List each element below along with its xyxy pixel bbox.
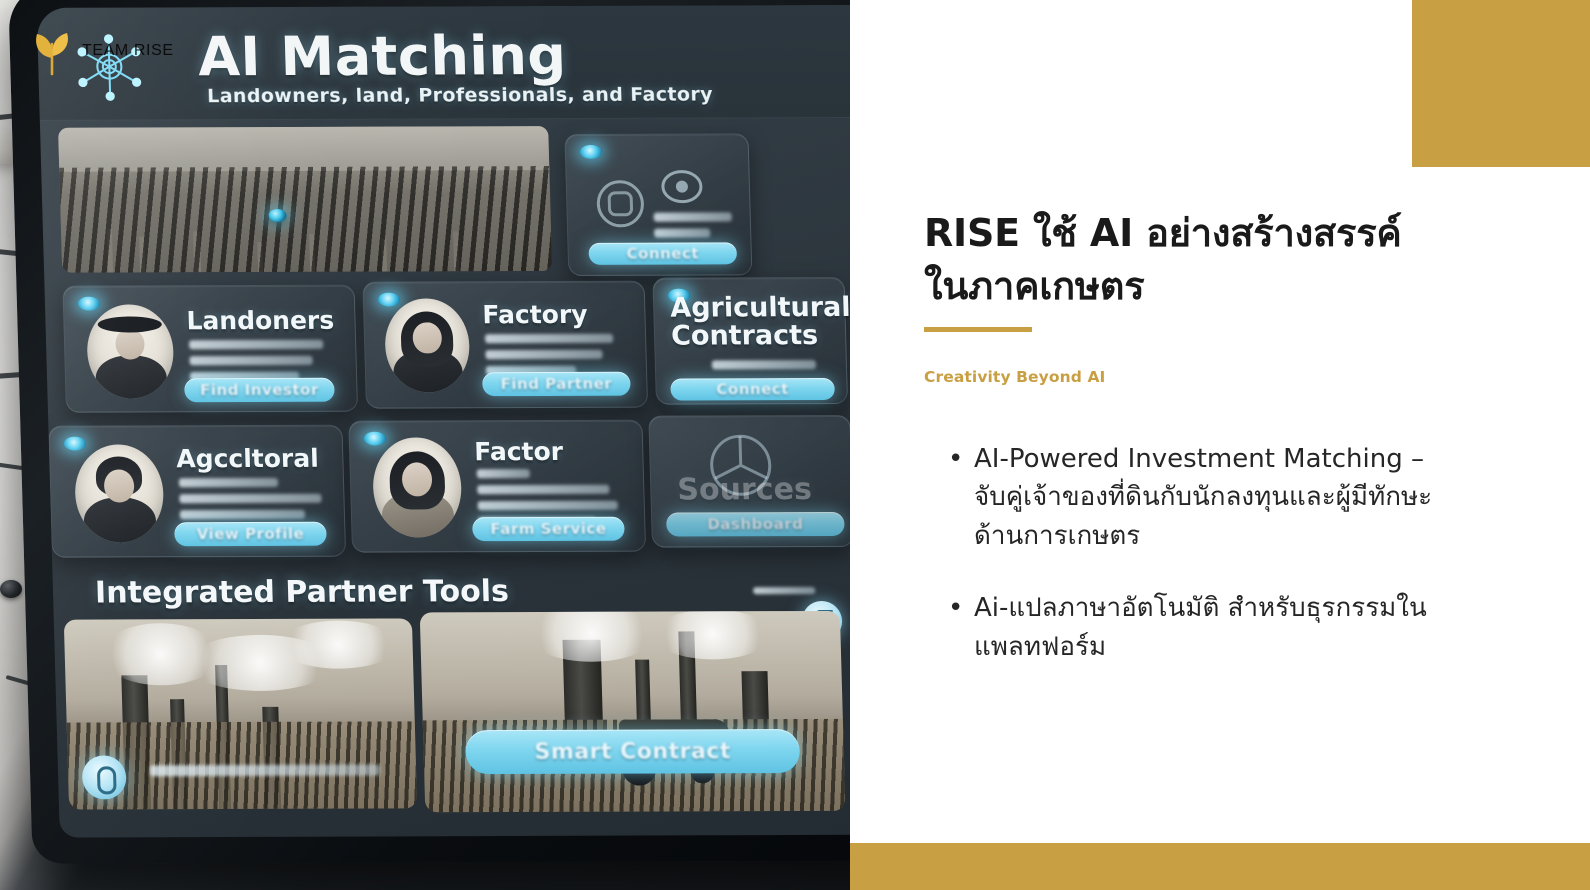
list-item: AI-Powered Investment Matching – จับคู่เ… [974,440,1444,555]
card-body-text [654,212,733,244]
card-title: Agccltoral [176,444,319,473]
avatar [384,298,471,392]
card-action-button[interactable]: Find Partner [482,372,631,397]
glow-node-icon [64,437,86,451]
smoke-plume [652,611,773,660]
smart-contract-photo-tile: Smart Contract [420,611,846,812]
card-action-label: Dashboard [666,512,845,537]
app-title: AI Matching [197,24,567,88]
bullet-list: AI-Powered Investment Matching – จับคู่เ… [946,440,1444,700]
glow-node-icon [580,145,602,159]
crop-rows [59,166,552,273]
avatar-face [412,322,441,354]
team-label: TEAM RISE [82,42,174,60]
skyline [58,126,549,172]
card-body-text [712,360,816,376]
app-header: AI Matching Landowners, land, Profession… [37,5,850,121]
smart-contract-label: Smart Contract [465,729,800,774]
card-action-button[interactable]: Farm Service [472,517,625,542]
gold-divider [924,327,1032,332]
glow-node-icon [78,297,100,311]
section-heading: Integrated Partner Tools [95,574,510,610]
avatar-face [402,462,433,496]
avatar [372,437,463,537]
page-title: RISE ใช้ AI อย่างสร้างสรรค์ในภาคเกษตร [924,207,1424,312]
tablet-device: AI Matching Landowners, land, Profession… [8,0,850,864]
card-title: Agricultural Contracts [670,294,848,351]
smart-contract-button[interactable]: Smart Contract [465,729,800,774]
avatar-face [104,469,135,502]
card-action-button[interactable]: Dashboard [666,512,845,537]
app-card[interactable]: Agccltoral View Profile [48,425,346,558]
card-action-button[interactable]: Connect [588,242,737,265]
app-card[interactable]: Sources Dashboard [648,415,850,548]
gold-accent-block [1412,0,1590,167]
card-action-label: Connect [670,378,835,401]
gold-footer-bar [850,843,1590,890]
card-action-label: Find Investor [184,378,335,403]
card-action-label: Connect [588,242,737,265]
glow-node-icon [378,293,400,307]
card-action-label: Find Partner [482,372,631,397]
card-title: Factory [482,300,588,329]
app-card[interactable]: Agricultural Contracts Connect [652,277,848,405]
app-subtitle: Landowners, land, Professionals, and Fac… [207,84,713,108]
shield-icon [593,177,649,231]
smoke-plume [278,620,399,668]
eye-icon [658,167,705,207]
glow-node-icon [364,432,386,446]
link-icon[interactable] [82,755,127,799]
presentation-slide: AI Matching Landowners, land, Profession… [0,0,1590,890]
list-item: Ai-แปลภาษาอัตโนมัติ สำหรับธุรกรรมในแพลทฟ… [974,589,1444,666]
neural-network-icon [65,29,153,103]
avatar-face [115,328,145,360]
card-action-button[interactable]: Find Investor [184,378,335,403]
card-action-label: View Profile [174,522,327,547]
tool-label [150,764,381,783]
card-action-button[interactable]: Connect [670,378,835,401]
section-meta-text [753,587,815,601]
tablet-screen: AI Matching Landowners, land, Profession… [37,5,850,838]
hero-image-panel: AI Matching Landowners, land, Profession… [0,0,850,890]
card-title: Factor [474,437,564,466]
avatar [86,304,175,398]
hat-icon [98,317,162,333]
factory-photo-tile [64,618,417,809]
app-card[interactable]: Factor Farm Service [348,420,646,553]
smoke-plume [526,611,658,662]
avatar [74,444,165,542]
glow-node-icon [268,209,286,222]
card-action-button[interactable]: View Profile [174,522,327,547]
card-title: Landoners [186,306,334,336]
card-title: Sources [677,472,812,507]
circuit-pin-icon [0,580,22,598]
app-card[interactable]: Landoners Find Investor [62,285,358,413]
card-action-label: Farm Service [472,517,625,542]
avatar-body [83,497,157,542]
content-panel: RISE ใช้ AI อย่างสร้างสรรค์ในภาคเกษตร Cr… [850,0,1590,890]
hero-field-image [58,126,552,273]
app-card[interactable]: Connect [564,133,752,276]
avatar-body [95,355,167,399]
kicker-text: Creativity Beyond AI [924,368,1105,386]
leaf-sprout-icon [28,28,78,76]
app-card[interactable]: Factory Find Partner [362,281,648,409]
